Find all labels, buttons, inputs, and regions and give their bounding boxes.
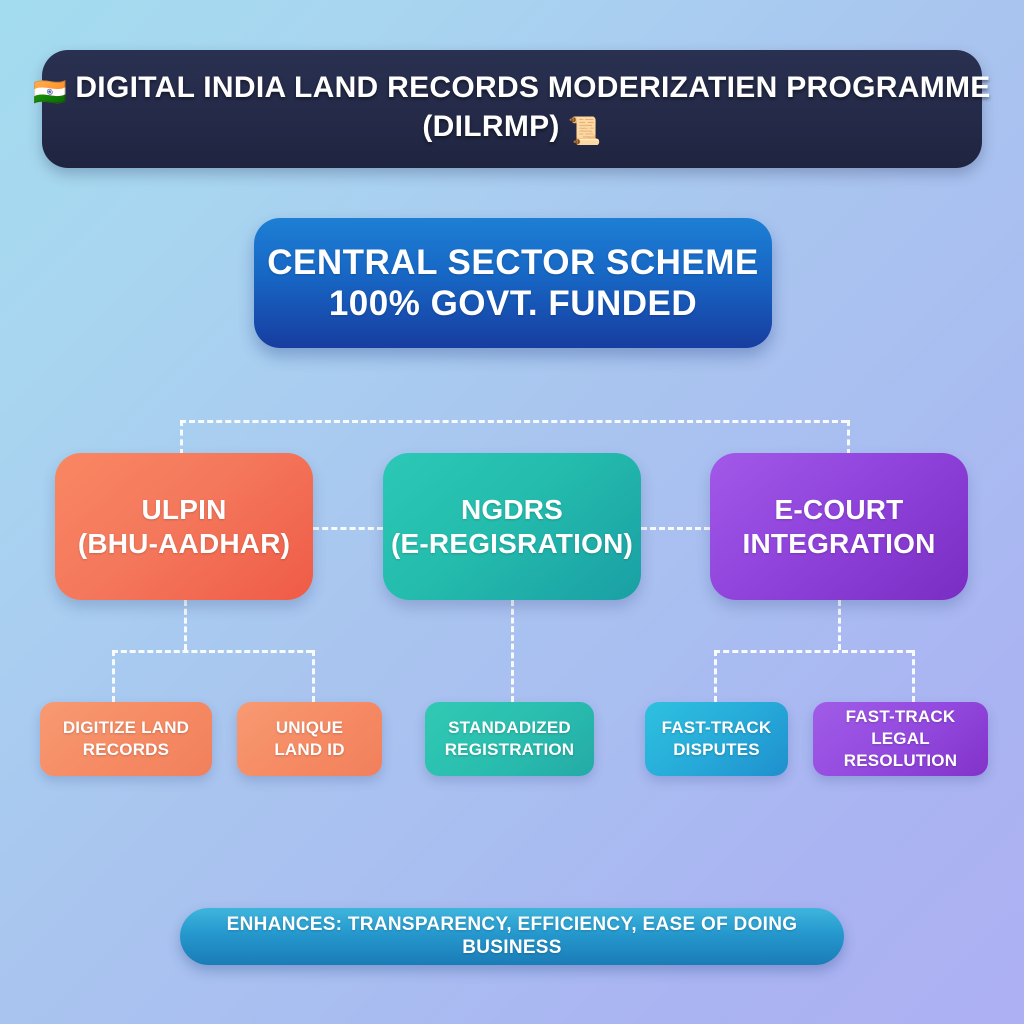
title-line-2: (DILRMP)📜 [422,109,601,148]
connector-pillar-bus-drop-right [847,420,850,455]
leaf-uniqueid-line-1: UNIQUE [276,717,343,739]
leaf-legal-line-2: LEGAL RESOLUTION [821,728,980,772]
leaf-standard-line-2: REGISTRATION [445,739,575,761]
connector-ecourt-branch-bus [714,650,912,653]
leaf-node-digitize-land-records[interactable]: DIGITIZE LAND RECORDS [40,702,212,776]
india-flag-icon: 🇮🇳 [33,77,67,109]
scheme-line-2: 100% GOVT. FUNDED [329,283,697,324]
connector-ulpin-branch-left [112,650,115,702]
leaf-legal-line-1: FAST-TRACK [846,706,956,728]
leaf-disputes-line-2: DISPUTES [673,739,760,761]
pillar-ecourt-line-1: E-COURT [775,493,904,526]
connector-ulpin-branch-right [312,650,315,702]
connector-ecourt-branch-left [714,650,717,702]
leaf-uniqueid-line-2: LAND ID [274,739,344,761]
connector-ulpin-stem [184,600,187,650]
leaf-digitize-line-1: DIGITIZE LAND [63,717,189,739]
programme-title-banner: 🇮🇳DIGITAL INDIA LAND RECORDS MODERIZATIE… [42,50,982,168]
connector-ecourt-stem [838,600,841,650]
infographic-canvas: 🇮🇳DIGITAL INDIA LAND RECORDS MODERIZATIE… [0,0,1024,1024]
title-acronym: (DILRMP) [422,110,559,143]
footer-text: ENHANCES: TRANSPARENCY, EFFICIENCY, EASE… [180,914,844,959]
connector-ngdrs-stem [511,600,514,702]
connector-pillar-bus-horizontal [180,420,847,423]
pillar-ecourt-line-2: INTEGRATION [742,527,935,560]
scheme-type-banner: CENTRAL SECTOR SCHEME 100% GOVT. FUNDED [254,218,772,348]
leaf-node-fast-track-legal-resolution[interactable]: FAST-TRACK LEGAL RESOLUTION [813,702,988,776]
pillar-node-ecourt[interactable]: E-COURT INTEGRATION [710,453,968,600]
pillar-ulpin-line-2: (BHU-AADHAR) [78,527,290,560]
leaf-digitize-line-2: RECORDS [83,739,169,761]
connector-ngdrs-to-ecourt [641,527,710,530]
title-line-1: 🇮🇳DIGITAL INDIA LAND RECORDS MODERIZATIE… [33,70,990,109]
connector-ulpin-to-ngdrs [313,527,383,530]
scroll-icon: 📜 [568,116,602,148]
leaf-node-unique-land-id[interactable]: UNIQUE LAND ID [237,702,382,776]
leaf-disputes-line-1: FAST-TRACK [662,717,772,739]
pillar-ngdrs-line-2: (E-REGISRATION) [391,527,633,560]
pillar-ngdrs-line-1: NGDRS [461,493,563,526]
leaf-node-standardized-registration[interactable]: STANDADIZED REGISTRATION [425,702,594,776]
scheme-line-1: CENTRAL SECTOR SCHEME [267,242,758,283]
leaf-standard-line-1: STANDADIZED [448,717,571,739]
pillar-ulpin-line-1: ULPIN [142,493,227,526]
connector-ulpin-branch-bus [112,650,312,653]
leaf-node-fast-track-disputes[interactable]: FAST-TRACK DISPUTES [645,702,788,776]
title-text-main: DIGITAL INDIA LAND RECORDS MODERIZATIEN … [75,71,990,104]
connector-ecourt-branch-right [912,650,915,702]
pillar-node-ulpin[interactable]: ULPIN (BHU-AADHAR) [55,453,313,600]
benefits-footer-banner: ENHANCES: TRANSPARENCY, EFFICIENCY, EASE… [180,908,844,965]
pillar-node-ngdrs[interactable]: NGDRS (E-REGISRATION) [383,453,641,600]
connector-pillar-bus-drop-left [180,420,183,455]
